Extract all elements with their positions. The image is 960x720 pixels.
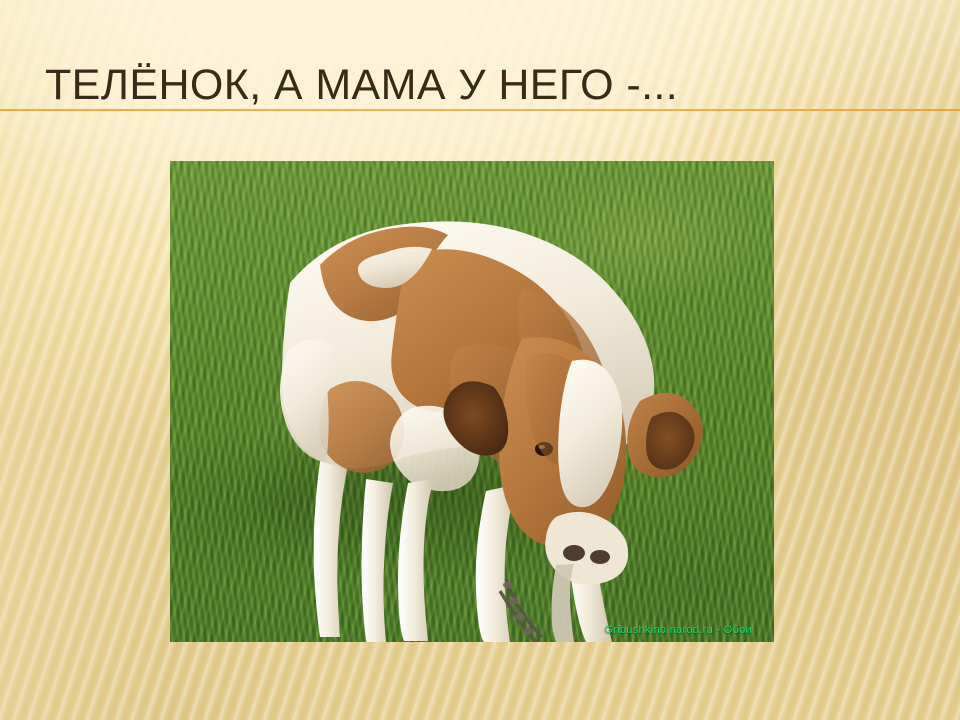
calf-rear-legs	[314, 461, 393, 642]
page-title: Телёнок, а мама у него -...	[45, 62, 678, 108]
calf-photo: Gribushkino.narod.ru - Обои	[170, 161, 774, 642]
calf-illustration	[170, 161, 774, 642]
title-block: Телёнок, а мама у него -... Телёнок, а м…	[0, 62, 960, 152]
slide: Телёнок, а мама у него -... Телёнок, а м…	[0, 0, 960, 720]
page-title-reflection-text: Телёнок, а мама у него -...	[45, 109, 678, 155]
title-underline-rule	[0, 109, 960, 111]
photo-watermark: Gribushkino.narod.ru - Обои	[604, 624, 752, 636]
tether-post	[552, 564, 575, 642]
